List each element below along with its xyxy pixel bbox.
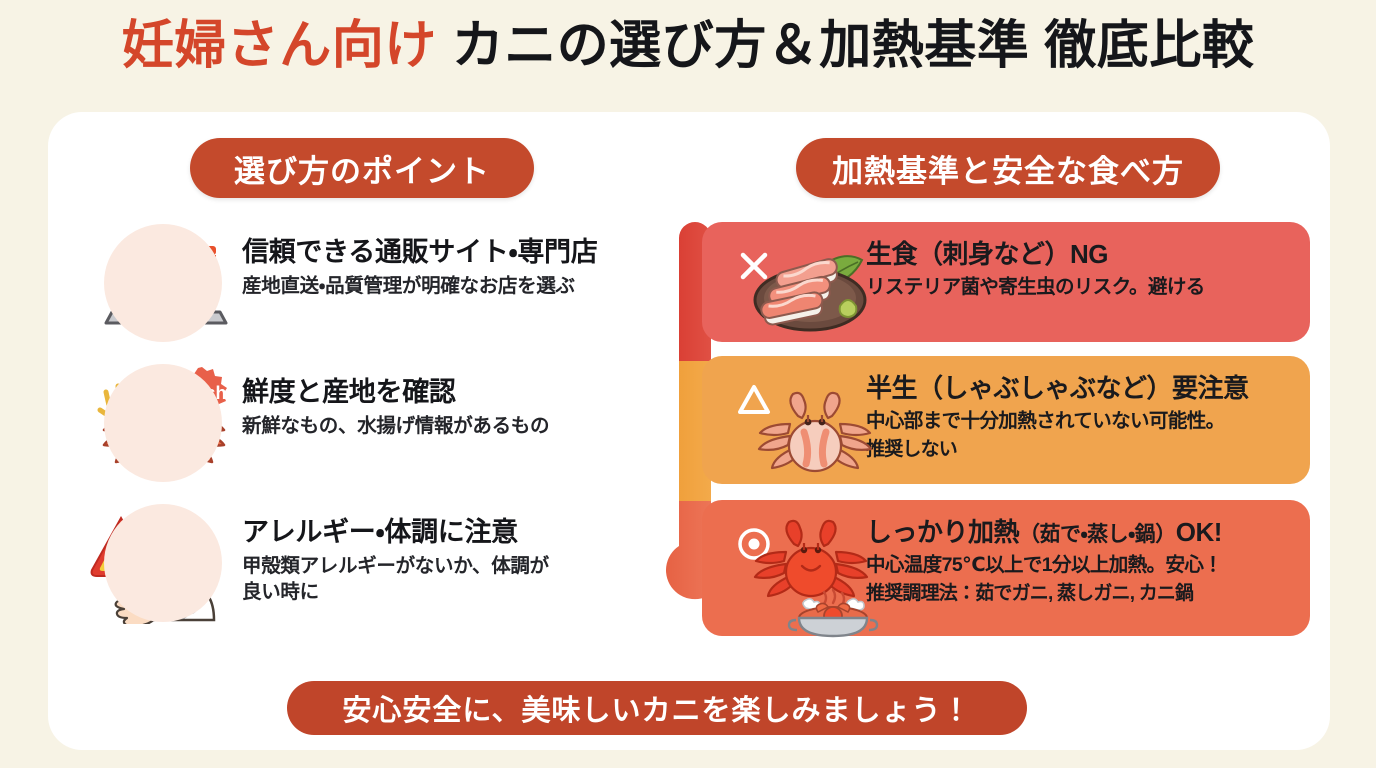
heat-level-detail-2: 推奨しない (866, 438, 1292, 462)
list-item-detail-line2: 良い時に (242, 580, 660, 606)
sashimi-glyph (746, 244, 894, 336)
section-heading-selection: 選び方のポイント (190, 138, 534, 198)
doctor-warning-icon (90, 498, 242, 624)
heat-level-heading-tail: OK! (1176, 517, 1222, 547)
list-item-heading: 信頼できる通販サイト・専門店 (242, 236, 660, 268)
title-main-text: カニの選び方＆加熱基準 徹底比較 (452, 17, 1254, 75)
section-heading-selection-label: 選び方のポイント (234, 146, 490, 191)
list-item-heading: アレルギー・体調に注意 (242, 516, 660, 548)
selection-points-list: 信頼できる通販サイト・専門店 産地直送・品質管理が明確なお店を選ぶ (90, 218, 660, 638)
infographic-root: 妊婦さん向け カニの選び方＆加熱基準 徹底比較 選び方のポイント 加熱基準と安全… (0, 0, 1376, 768)
section-heading-heating: 加熱基準と安全な食べ方 (796, 138, 1220, 198)
heat-level-card-ng-text: 生食（刺身など）NG リステリア菌や寄生虫のリスク。避ける (866, 236, 1292, 300)
list-item-detail-line1: 甲殻類アレルギーがないか、体調が (242, 554, 660, 580)
title-accent-text: 妊婦さん向け (122, 17, 437, 75)
raw-crab-icon (718, 370, 866, 470)
heat-level-heading: 半生（しゃぶしゃぶなど）要注意 (866, 374, 1292, 404)
list-item-text: アレルギー・体調に注意 甲殻類アレルギーがないか、体調が 良い時に (242, 498, 660, 606)
page-title: 妊婦さん向け カニの選び方＆加熱基準 徹底比較 (0, 18, 1376, 75)
heat-level-card-warning: 半生（しゃぶしゃぶなど）要注意 中心部まで十分加熱されていない可能性。 推奨しな… (702, 356, 1310, 484)
list-item: アレルギー・体調に注意 甲殻類アレルギーがないか、体調が 良い時に (90, 498, 660, 638)
footer-message: 安心安全に、美味しいカニを楽しみましょう！ (342, 687, 971, 729)
fresh-crab-badge-icon: Fresh (90, 358, 242, 484)
heat-level-detail-2: 推奨調理法：茹でガニ, 蒸しガニ, カニ鍋 (866, 582, 1292, 606)
footer-banner: 安心安全に、美味しいカニを楽しみましょう！ (287, 681, 1027, 735)
heat-level-heading-methods: （茹で・蒸し・鍋） (1019, 523, 1176, 546)
icon-background-blob (104, 504, 222, 622)
list-item-detail: 甲殻類アレルギーがないか、体調が 良い時に (242, 554, 660, 605)
cooked-crab-hotpot-glyph (748, 516, 880, 644)
list-item-detail: 新鮮なもの、水揚げ情報があるもの (242, 414, 660, 440)
heat-level-detail: 中心温度75℃以上で1分以上加熱。安心！ (866, 553, 1292, 578)
list-item: Fresh 鮮度と産地を確認 新鮮なもの、水揚げ情報があるもの (90, 358, 660, 498)
list-item-heading: 鮮度と産地を確認 (242, 376, 660, 408)
heat-level-card-ok-text: しっかり加熱（茹で・蒸し・鍋）OK! 中心温度75℃以上で1分以上加熱。安心！ … (866, 514, 1292, 606)
heat-level-detail: リステリア菌や寄生虫のリスク。避ける (866, 275, 1292, 300)
list-item-detail: 産地直送・品質管理が明確なお店を選ぶ (242, 274, 660, 300)
heat-level-card-ok: しっかり加熱（茹で・蒸し・鍋）OK! 中心温度75℃以上で1分以上加熱。安心！ … (702, 500, 1310, 636)
heat-level-heading: しっかり加熱（茹で・蒸し・鍋）OK! (866, 518, 1292, 548)
heat-level-card-warning-text: 半生（しゃぶしゃぶなど）要注意 中心部まで十分加熱されていない可能性。 推奨しな… (866, 370, 1292, 462)
icon-background-blob (104, 364, 222, 482)
list-item-text: 鮮度と産地を確認 新鮮なもの、水揚げ情報があるもの (242, 358, 660, 440)
list-item: 信頼できる通販サイト・専門店 産地直送・品質管理が明確なお店を選ぶ (90, 218, 660, 358)
sashimi-plate-icon (718, 236, 866, 328)
heat-level-heading: 生食（刺身など）NG (866, 240, 1292, 270)
heat-level-card-ng: 生食（刺身など）NG リステリア菌や寄生虫のリスク。避ける (702, 222, 1310, 342)
icon-background-blob (104, 224, 222, 342)
cooked-crab-hotpot-icon (718, 514, 866, 622)
heat-level-heading-main: しっかり加熱 (866, 517, 1019, 547)
list-item-text: 信頼できる通販サイト・専門店 産地直送・品質管理が明確なお店を選ぶ (242, 218, 660, 300)
heat-level-detail: 中心部まで十分加熱されていない可能性。 (866, 409, 1292, 434)
online-shop-crab-icon (90, 218, 242, 344)
section-heading-heating-label: 加熱基準と安全な食べ方 (832, 146, 1184, 191)
raw-crab-glyph (752, 376, 878, 488)
